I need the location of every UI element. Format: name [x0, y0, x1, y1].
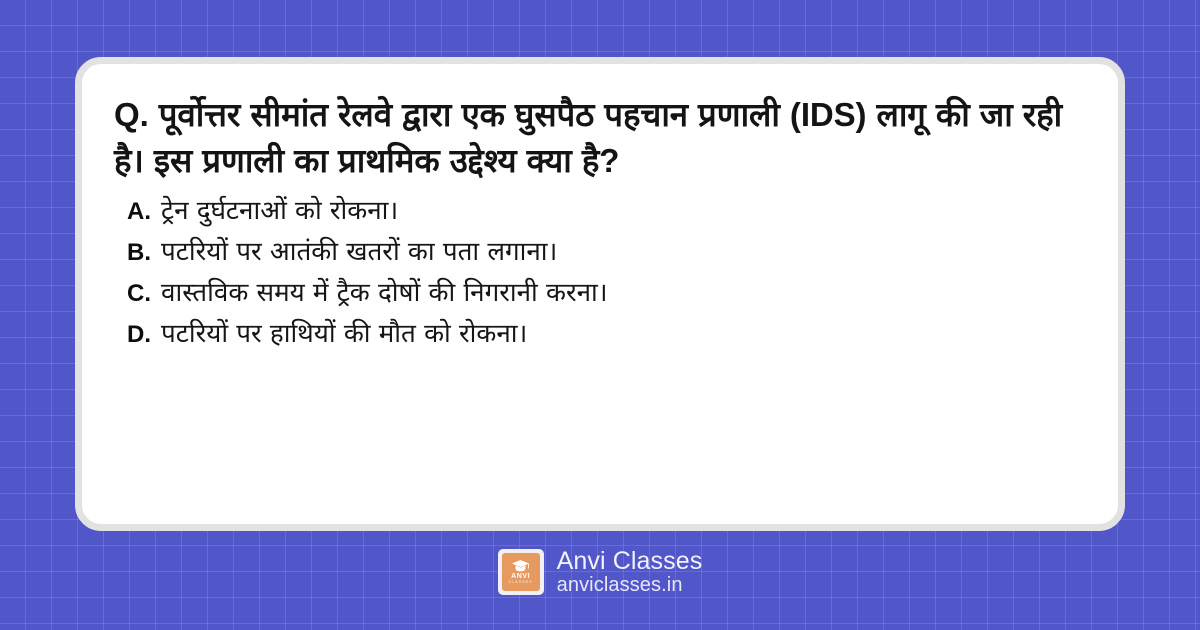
- footer-brand: ANVI CLASSES Anvi Classes anviclasses.in: [0, 548, 1200, 596]
- option-d-text: पटरियों पर हाथियों की मौत को रोकना।: [161, 320, 527, 346]
- option-c-letter: C.: [127, 282, 161, 306]
- option-b-text: पटरियों पर आतंकी खतरों का पता लगाना।: [161, 238, 557, 264]
- option-a[interactable]: A. ट्रेन दुर्घटनाओं को रोकना।: [127, 197, 1088, 224]
- option-b-letter: B.: [127, 241, 161, 265]
- option-a-text: ट्रेन दुर्घटनाओं को रोकना।: [161, 197, 398, 223]
- brand-logo-tile: ANVI CLASSES: [502, 553, 540, 591]
- brand-url[interactable]: anviclasses.in: [557, 575, 703, 596]
- graduation-cap-icon: [512, 560, 529, 572]
- brand-logo-name: ANVI: [511, 573, 530, 580]
- option-c[interactable]: C. वास्तविक समय में ट्रैक दोषों की निगरा…: [127, 279, 1088, 306]
- brand-logo-subtitle: CLASSES: [509, 581, 533, 585]
- brand-text-group: Anvi Classes anviclasses.in: [557, 548, 703, 596]
- option-d-letter: D.: [127, 323, 161, 347]
- options-list: A. ट्रेन दुर्घटनाओं को रोकना। B. पटरियों…: [112, 197, 1088, 347]
- question-text: Q. पूर्वोत्तर सीमांत रेलवे द्वारा एक घुस…: [112, 92, 1088, 183]
- quiz-card: Q. पूर्वोत्तर सीमांत रेलवे द्वारा एक घुस…: [75, 57, 1125, 531]
- option-d[interactable]: D. पटरियों पर हाथियों की मौत को रोकना।: [127, 320, 1088, 347]
- brand-logo: ANVI CLASSES: [498, 549, 544, 595]
- brand-title: Anvi Classes: [557, 548, 703, 574]
- option-c-text: वास्तविक समय में ट्रैक दोषों की निगरानी …: [161, 279, 608, 305]
- option-a-letter: A.: [127, 200, 161, 224]
- option-b[interactable]: B. पटरियों पर आतंकी खतरों का पता लगाना।: [127, 238, 1088, 265]
